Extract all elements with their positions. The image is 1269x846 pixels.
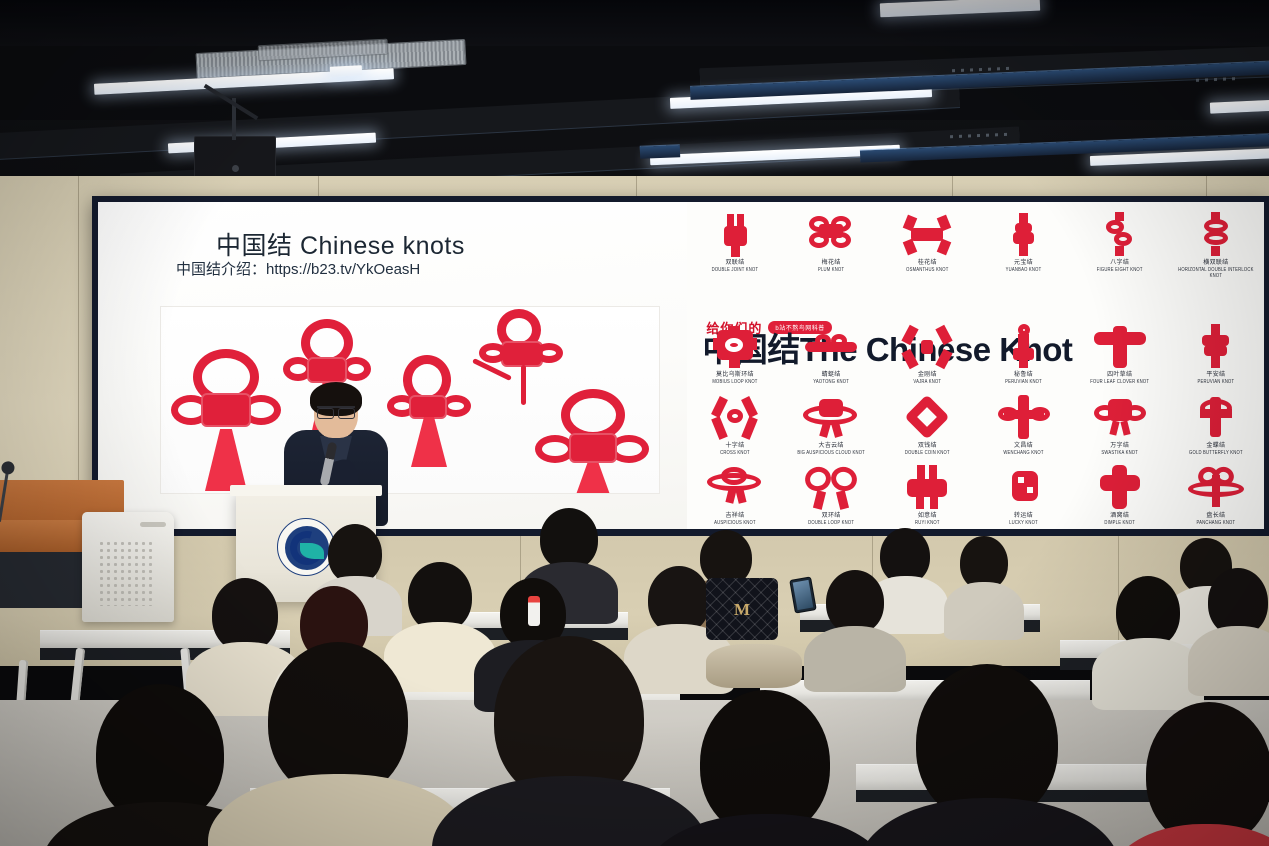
knot-name-en: OSMANTHUS KNOT	[883, 267, 972, 273]
vajra-knot-icon	[899, 324, 955, 370]
horizontal-double-interlock-knot-icon	[1188, 212, 1244, 258]
knot-name-en: WENCHANG KNOT	[979, 450, 1068, 456]
knot-name-en: PERUVIAN KNOT	[979, 379, 1068, 385]
lucky-knot-icon	[996, 465, 1052, 511]
knot-name-en: PLUM KNOT	[787, 267, 876, 273]
knot-cell: 文昌结 WENCHANG KNOT	[979, 395, 1068, 454]
knot-cell: 八字结 FIGURE EIGHT KNOT	[1075, 212, 1164, 271]
dimple-knot-icon	[1092, 465, 1148, 511]
double-joint-knot-icon	[707, 212, 763, 258]
wenchang-knot-icon	[996, 395, 1052, 441]
knot-cell: 横双联结 HORIZONTAL DOUBLE INTERLOCK KNOT	[1171, 212, 1260, 276]
knot-cell: 秘鲁结 PERUVIAN KNOT	[979, 324, 1068, 383]
knot-cell: 双联结 DOUBLE JOINT KNOT	[691, 212, 780, 271]
knot-name-en: BIG AUSPICIOUS CLOUD KNOT	[787, 450, 876, 456]
projector-rail	[640, 145, 680, 159]
knot-cell: 元宝结 YUANBAO KNOT	[979, 212, 1068, 271]
ceiling	[0, 0, 1269, 200]
panchang-knot-icon	[1188, 465, 1244, 511]
knot-name-en: FIGURE EIGHT KNOT	[1075, 267, 1164, 273]
knot-cell: 平安结 PERUVIAN KNOT	[1171, 324, 1260, 383]
cross-knot-icon	[707, 395, 763, 441]
knot-name-en: SWASTIKA KNOT	[1075, 450, 1164, 456]
handbag: M	[706, 578, 778, 640]
lecture-hall-scene: 中国结 Chinese knots 中国结介绍：https://b23.tv/Y…	[0, 0, 1269, 846]
big-auspicious-cloud-knot-icon	[803, 395, 859, 441]
auspicious-knot-icon	[707, 465, 763, 511]
knot-poster: 双联结 DOUBLE JOINT KNOT 梅花结 PLUM KNOT	[687, 202, 1264, 529]
knot-name-en: AUSPICIOUS KNOT	[691, 520, 780, 526]
knot-name-en: MOBIUS LOOP KNOT	[691, 379, 780, 385]
plum-knot-icon	[803, 212, 859, 258]
knot-cell: 莫比乌斯环结 MOBIUS LOOP KNOT	[691, 324, 780, 383]
knot-cell: 盘长结 PANCHANG KNOT	[1171, 465, 1260, 524]
double-coin-knot-icon	[899, 395, 955, 441]
osmanthus-knot-icon	[899, 212, 955, 258]
poster-row: 吉祥结 AUSPICIOUS KNOT 双环结 DOUBLE LOOP KNOT	[687, 465, 1264, 524]
ping-an-knot-icon	[1188, 324, 1244, 370]
white-equipment-box	[82, 512, 174, 622]
knot-cell: 梅花结 PLUM KNOT	[787, 212, 876, 271]
knot-name-en: PANCHANG KNOT	[1171, 520, 1260, 526]
knot-name-en: PERUVIAN KNOT	[1171, 379, 1260, 385]
knot-name-en: FOUR LEAF CLOVER KNOT	[1075, 379, 1164, 385]
slide-title: 中国结 Chinese knots	[216, 226, 465, 262]
knot-cell: 如意结 RUYI KNOT	[883, 465, 972, 524]
swastika-knot-icon	[1092, 395, 1148, 441]
ceiling-light-strip	[330, 65, 362, 77]
knot-name-en: HORIZONTAL DOUBLE INTERLOCK KNOT	[1171, 267, 1260, 279]
knot-name-en: DOUBLE COIN KNOT	[883, 450, 972, 456]
yuanbao-knot-icon	[996, 212, 1052, 258]
slide-subtitle-url: 中国结介绍：https://b23.tv/YkOeasH	[176, 258, 420, 279]
projection-screen[interactable]: 中国结 Chinese knots 中国结介绍：https://b23.tv/Y…	[98, 202, 1264, 529]
knot-name-en: DIMPLE KNOT	[1075, 520, 1164, 526]
bag-logo: M	[734, 600, 750, 620]
double-loop-knot-icon	[803, 465, 859, 511]
poster-row: 双联结 DOUBLE JOINT KNOT 梅花结 PLUM KNOT	[687, 212, 1264, 276]
peruvian-knot-icon	[996, 324, 1052, 370]
knot-cell: 金蝶结 GOLD BUTTERFLY KNOT	[1171, 395, 1260, 454]
knot-cell: 双环结 DOUBLE LOOP KNOT	[787, 465, 876, 524]
knot-cell: 十字结 CROSS KNOT	[691, 395, 780, 454]
knot-name-en: RUYI KNOT	[883, 520, 972, 526]
knot-name-en: LUCKY KNOT	[979, 520, 1068, 526]
knot-name-en: GOLD BUTTERFLY KNOT	[1171, 450, 1260, 456]
podium-top-surface	[230, 485, 382, 496]
draped-coat	[706, 644, 802, 688]
phone-screen	[793, 580, 814, 610]
knot-name-en: VAJRA KNOT	[883, 379, 972, 385]
knot-name-en: DOUBLE LOOP KNOT	[787, 520, 876, 526]
poster-row: 莫比乌斯环结 MOBIUS LOOP KNOT 蜻蜓结 YAOTONG KNOT	[687, 324, 1264, 383]
mobius-loop-knot-icon	[707, 324, 763, 370]
knot-name-en: CROSS KNOT	[691, 450, 780, 456]
knot-cell: 四叶草结 FOUR LEAF CLOVER KNOT	[1075, 324, 1164, 383]
knot-cell: 吉祥结 AUSPICIOUS KNOT	[691, 465, 780, 524]
gold-butterfly-knot-icon	[1188, 395, 1244, 441]
knot-name-en: DOUBLE JOINT KNOT	[691, 267, 780, 273]
four-leaf-clover-knot-icon	[1092, 324, 1148, 370]
knot-cell: 蜻蜓结 YAOTONG KNOT	[787, 324, 876, 383]
water-bottle	[528, 596, 540, 626]
knot-cell: 酒窝结 DIMPLE KNOT	[1075, 465, 1164, 524]
knot-cell: 万字结 SWASTIKA KNOT	[1075, 395, 1164, 454]
ruyi-knot-icon	[899, 465, 955, 511]
knot-name-en: YAOTONG KNOT	[787, 379, 876, 385]
equipment-grill	[98, 540, 156, 606]
speaker-glasses	[317, 406, 355, 415]
knot-cell: 转运结 LUCKY KNOT	[979, 465, 1068, 524]
poster-row: 十字结 CROSS KNOT 大吉云结 BIG AUSPICIOUS CLOUD…	[687, 395, 1264, 454]
figure-eight-knot-icon	[1092, 212, 1148, 258]
knot-cell: 大吉云结 BIG AUSPICIOUS CLOUD KNOT	[787, 395, 876, 454]
knot-name-en: YUANBAO KNOT	[979, 267, 1068, 273]
knot-photo	[160, 306, 660, 494]
knot-cell: 双钱结 DOUBLE COIN KNOT	[883, 395, 972, 454]
university-emblem	[277, 518, 335, 576]
yaotong-knot-icon	[803, 324, 859, 370]
knot-cell: 桂花结 OSMANTHUS KNOT	[883, 212, 972, 271]
knot-cell: 金刚结 VAJRA KNOT	[883, 324, 972, 383]
